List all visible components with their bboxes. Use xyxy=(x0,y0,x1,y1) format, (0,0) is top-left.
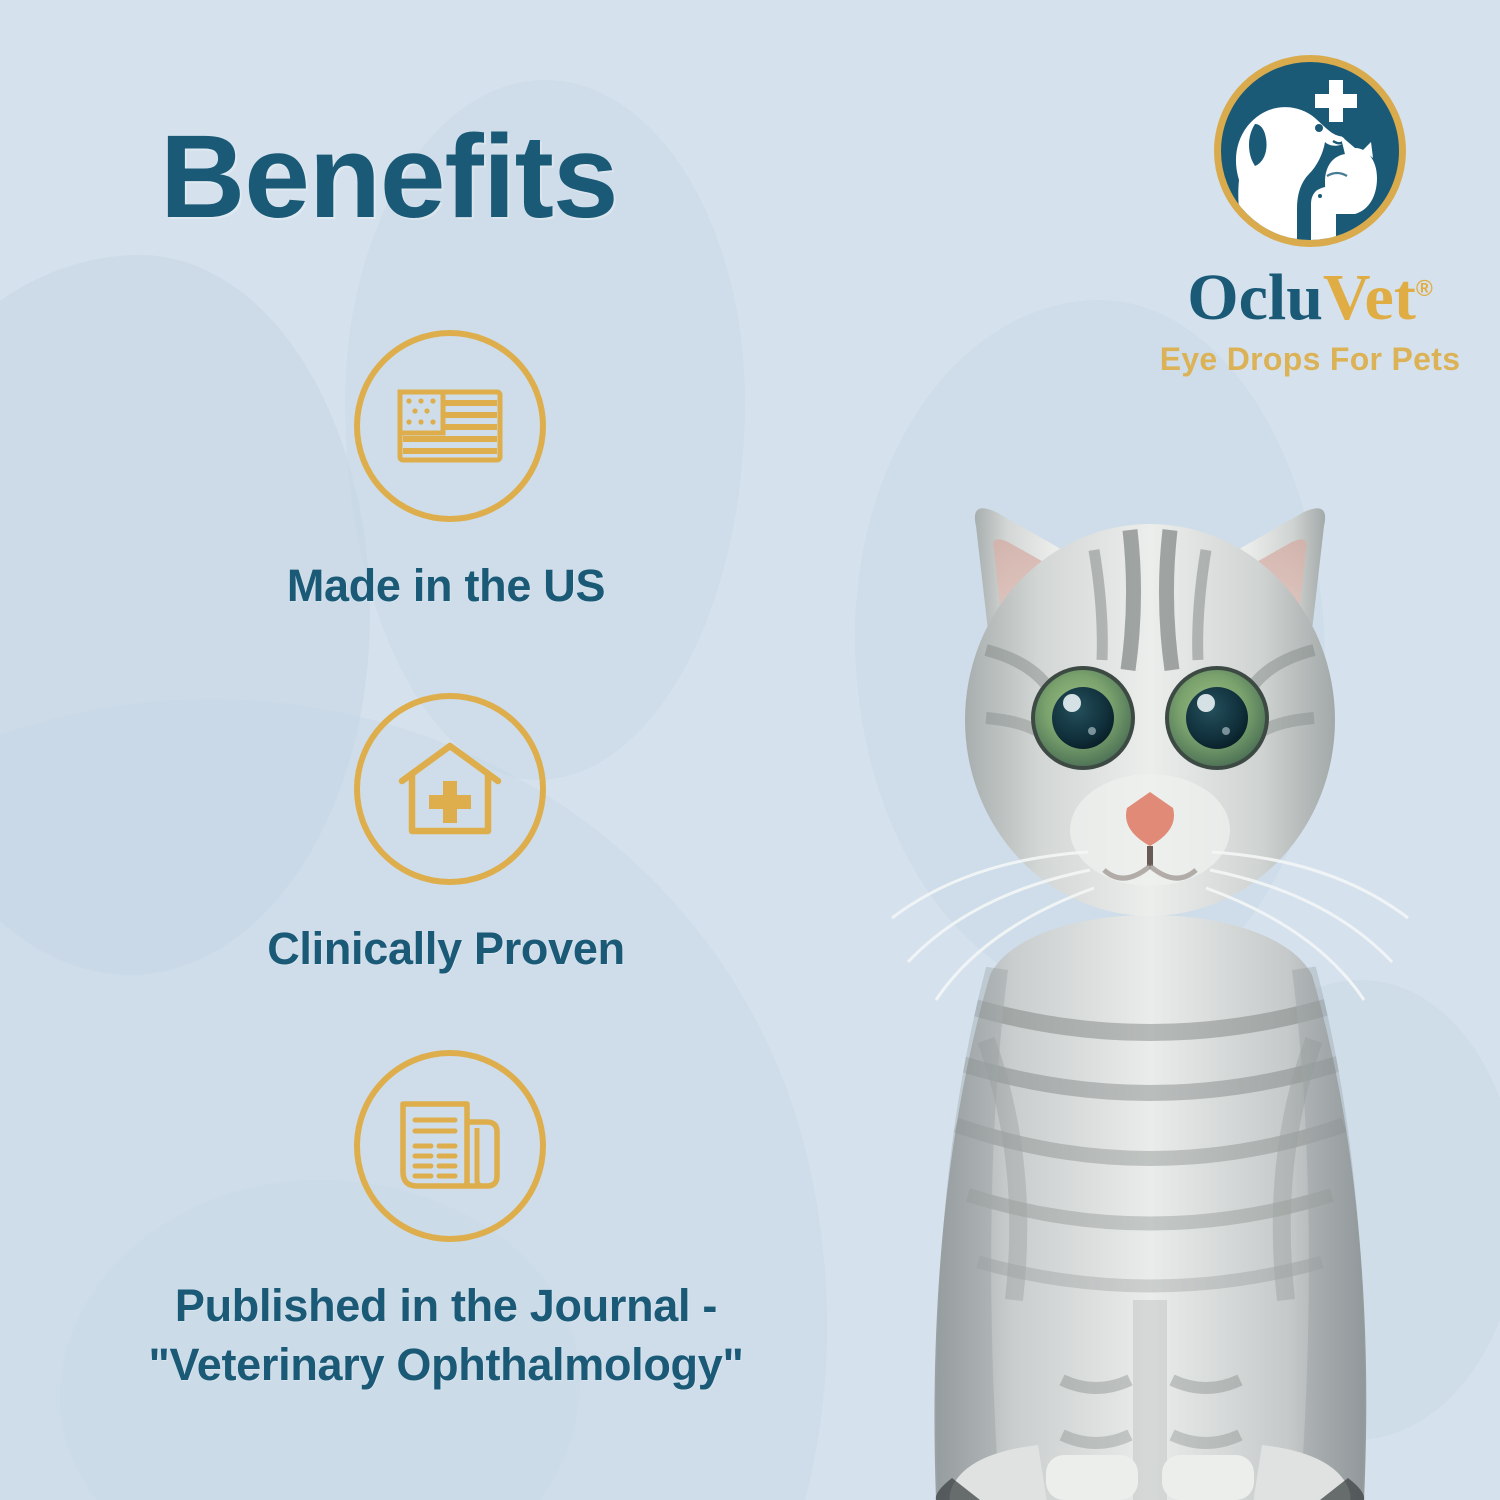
background-blob-right-lower xyxy=(1190,980,1500,1440)
clinic-house-cross-icon xyxy=(354,693,546,885)
benefit-label: Made in the US xyxy=(0,556,900,615)
benefit-label: Clinically Proven xyxy=(0,919,900,978)
benefits-product-image: Benefits Made in the US xyxy=(0,0,1500,1500)
benefit-label-line-1: Published in the Journal - xyxy=(0,1276,900,1335)
benefit-label-line-2: "Veterinary Ophthalmology" xyxy=(0,1335,900,1394)
benefit-item-published-journal: Published in the Journal - "Veterinary O… xyxy=(0,1050,900,1395)
brand-logo: OcluVet® Eye Drops For Pets xyxy=(1120,55,1500,378)
brand-name: OcluVet® xyxy=(1120,265,1500,331)
brand-name-second: Vet xyxy=(1323,261,1416,334)
dog-cat-bird-medical-cross-badge-icon xyxy=(1214,55,1406,247)
page-title: Benefits xyxy=(160,118,618,236)
registered-mark-icon: ® xyxy=(1416,275,1433,301)
benefit-label: Published in the Journal - "Veterinary O… xyxy=(0,1276,900,1395)
benefit-item-clinically-proven: Clinically Proven xyxy=(0,693,900,978)
us-flag-icon xyxy=(354,330,546,522)
background-blob-right xyxy=(855,300,1325,1000)
brand-name-first: Oclu xyxy=(1187,261,1323,334)
benefit-item-made-in-us: Made in the US xyxy=(0,330,900,615)
brand-tagline: Eye Drops For Pets xyxy=(1120,341,1500,378)
newspaper-journal-icon xyxy=(354,1050,546,1242)
